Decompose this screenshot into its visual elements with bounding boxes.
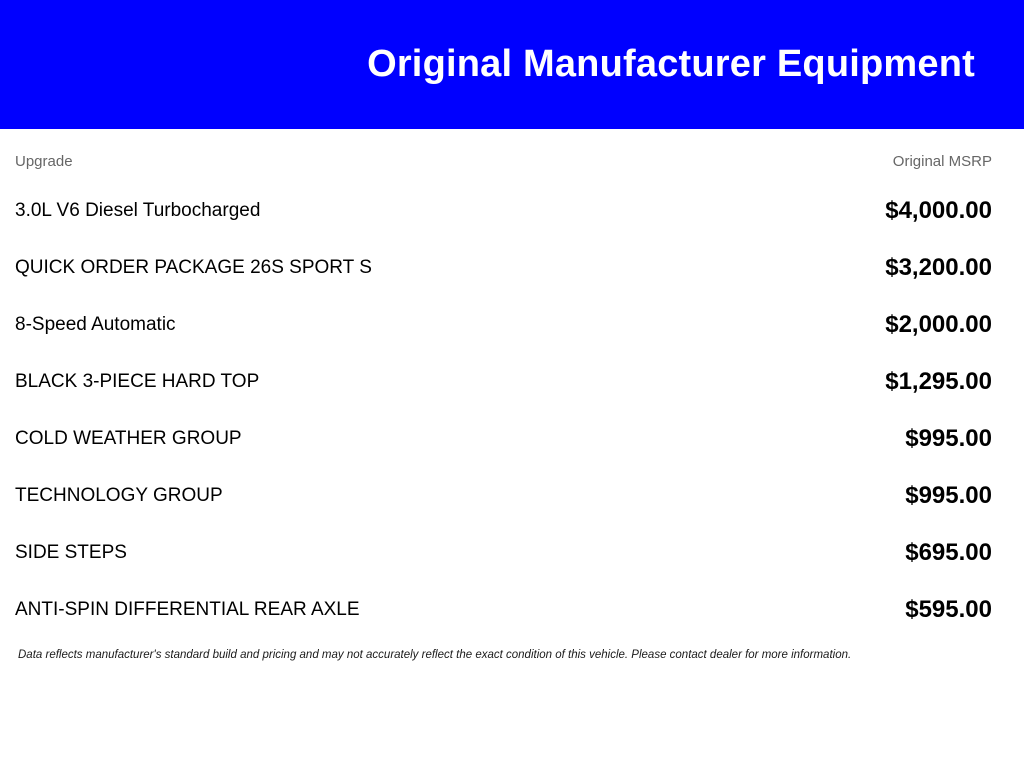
column-header-upgrade: Upgrade [15,129,621,182]
table-row: 8-Speed Automatic $2,000.00 [15,296,992,353]
table-body: 3.0L V6 Diesel Turbocharged $4,000.00 QU… [15,182,992,638]
upgrade-name: QUICK ORDER PACKAGE 26S SPORT S [15,239,621,296]
table-row: BLACK 3-PIECE HARD TOP $1,295.00 [15,353,992,410]
table-row: ANTI-SPIN DIFFERENTIAL REAR AXLE $595.00 [15,581,992,638]
equipment-table: Upgrade Original MSRP 3.0L V6 Diesel Tur… [15,129,992,638]
table-row: 3.0L V6 Diesel Turbocharged $4,000.00 [15,182,992,239]
upgrade-price: $3,200.00 [621,239,992,296]
table-header: Upgrade Original MSRP [15,129,992,182]
upgrade-name: ANTI-SPIN DIFFERENTIAL REAR AXLE [15,581,621,638]
upgrade-price: $4,000.00 [621,182,992,239]
upgrade-price: $995.00 [621,410,992,467]
upgrade-price: $2,000.00 [621,296,992,353]
disclaimer-text: Data reflects manufacturer's standard bu… [15,638,992,663]
upgrade-price: $595.00 [621,581,992,638]
table-row: QUICK ORDER PACKAGE 26S SPORT S $3,200.0… [15,239,992,296]
table-header-row: Upgrade Original MSRP [15,129,992,182]
equipment-page: Original Manufacturer Equipment Upgrade … [0,0,1024,768]
table-row: SIDE STEPS $695.00 [15,524,992,581]
upgrade-name: BLACK 3-PIECE HARD TOP [15,353,621,410]
upgrade-price: $995.00 [621,467,992,524]
page-header-banner: Original Manufacturer Equipment [0,0,1024,129]
upgrade-name: TECHNOLOGY GROUP [15,467,621,524]
table-row: TECHNOLOGY GROUP $995.00 [15,467,992,524]
upgrade-name: SIDE STEPS [15,524,621,581]
column-header-msrp: Original MSRP [621,129,992,182]
upgrade-name: COLD WEATHER GROUP [15,410,621,467]
table-row: COLD WEATHER GROUP $995.00 [15,410,992,467]
equipment-content: Upgrade Original MSRP 3.0L V6 Diesel Tur… [0,129,1024,768]
upgrade-name: 8-Speed Automatic [15,296,621,353]
upgrade-price: $695.00 [621,524,992,581]
page-title: Original Manufacturer Equipment [367,44,975,86]
upgrade-name: 3.0L V6 Diesel Turbocharged [15,182,621,239]
upgrade-price: $1,295.00 [621,353,992,410]
